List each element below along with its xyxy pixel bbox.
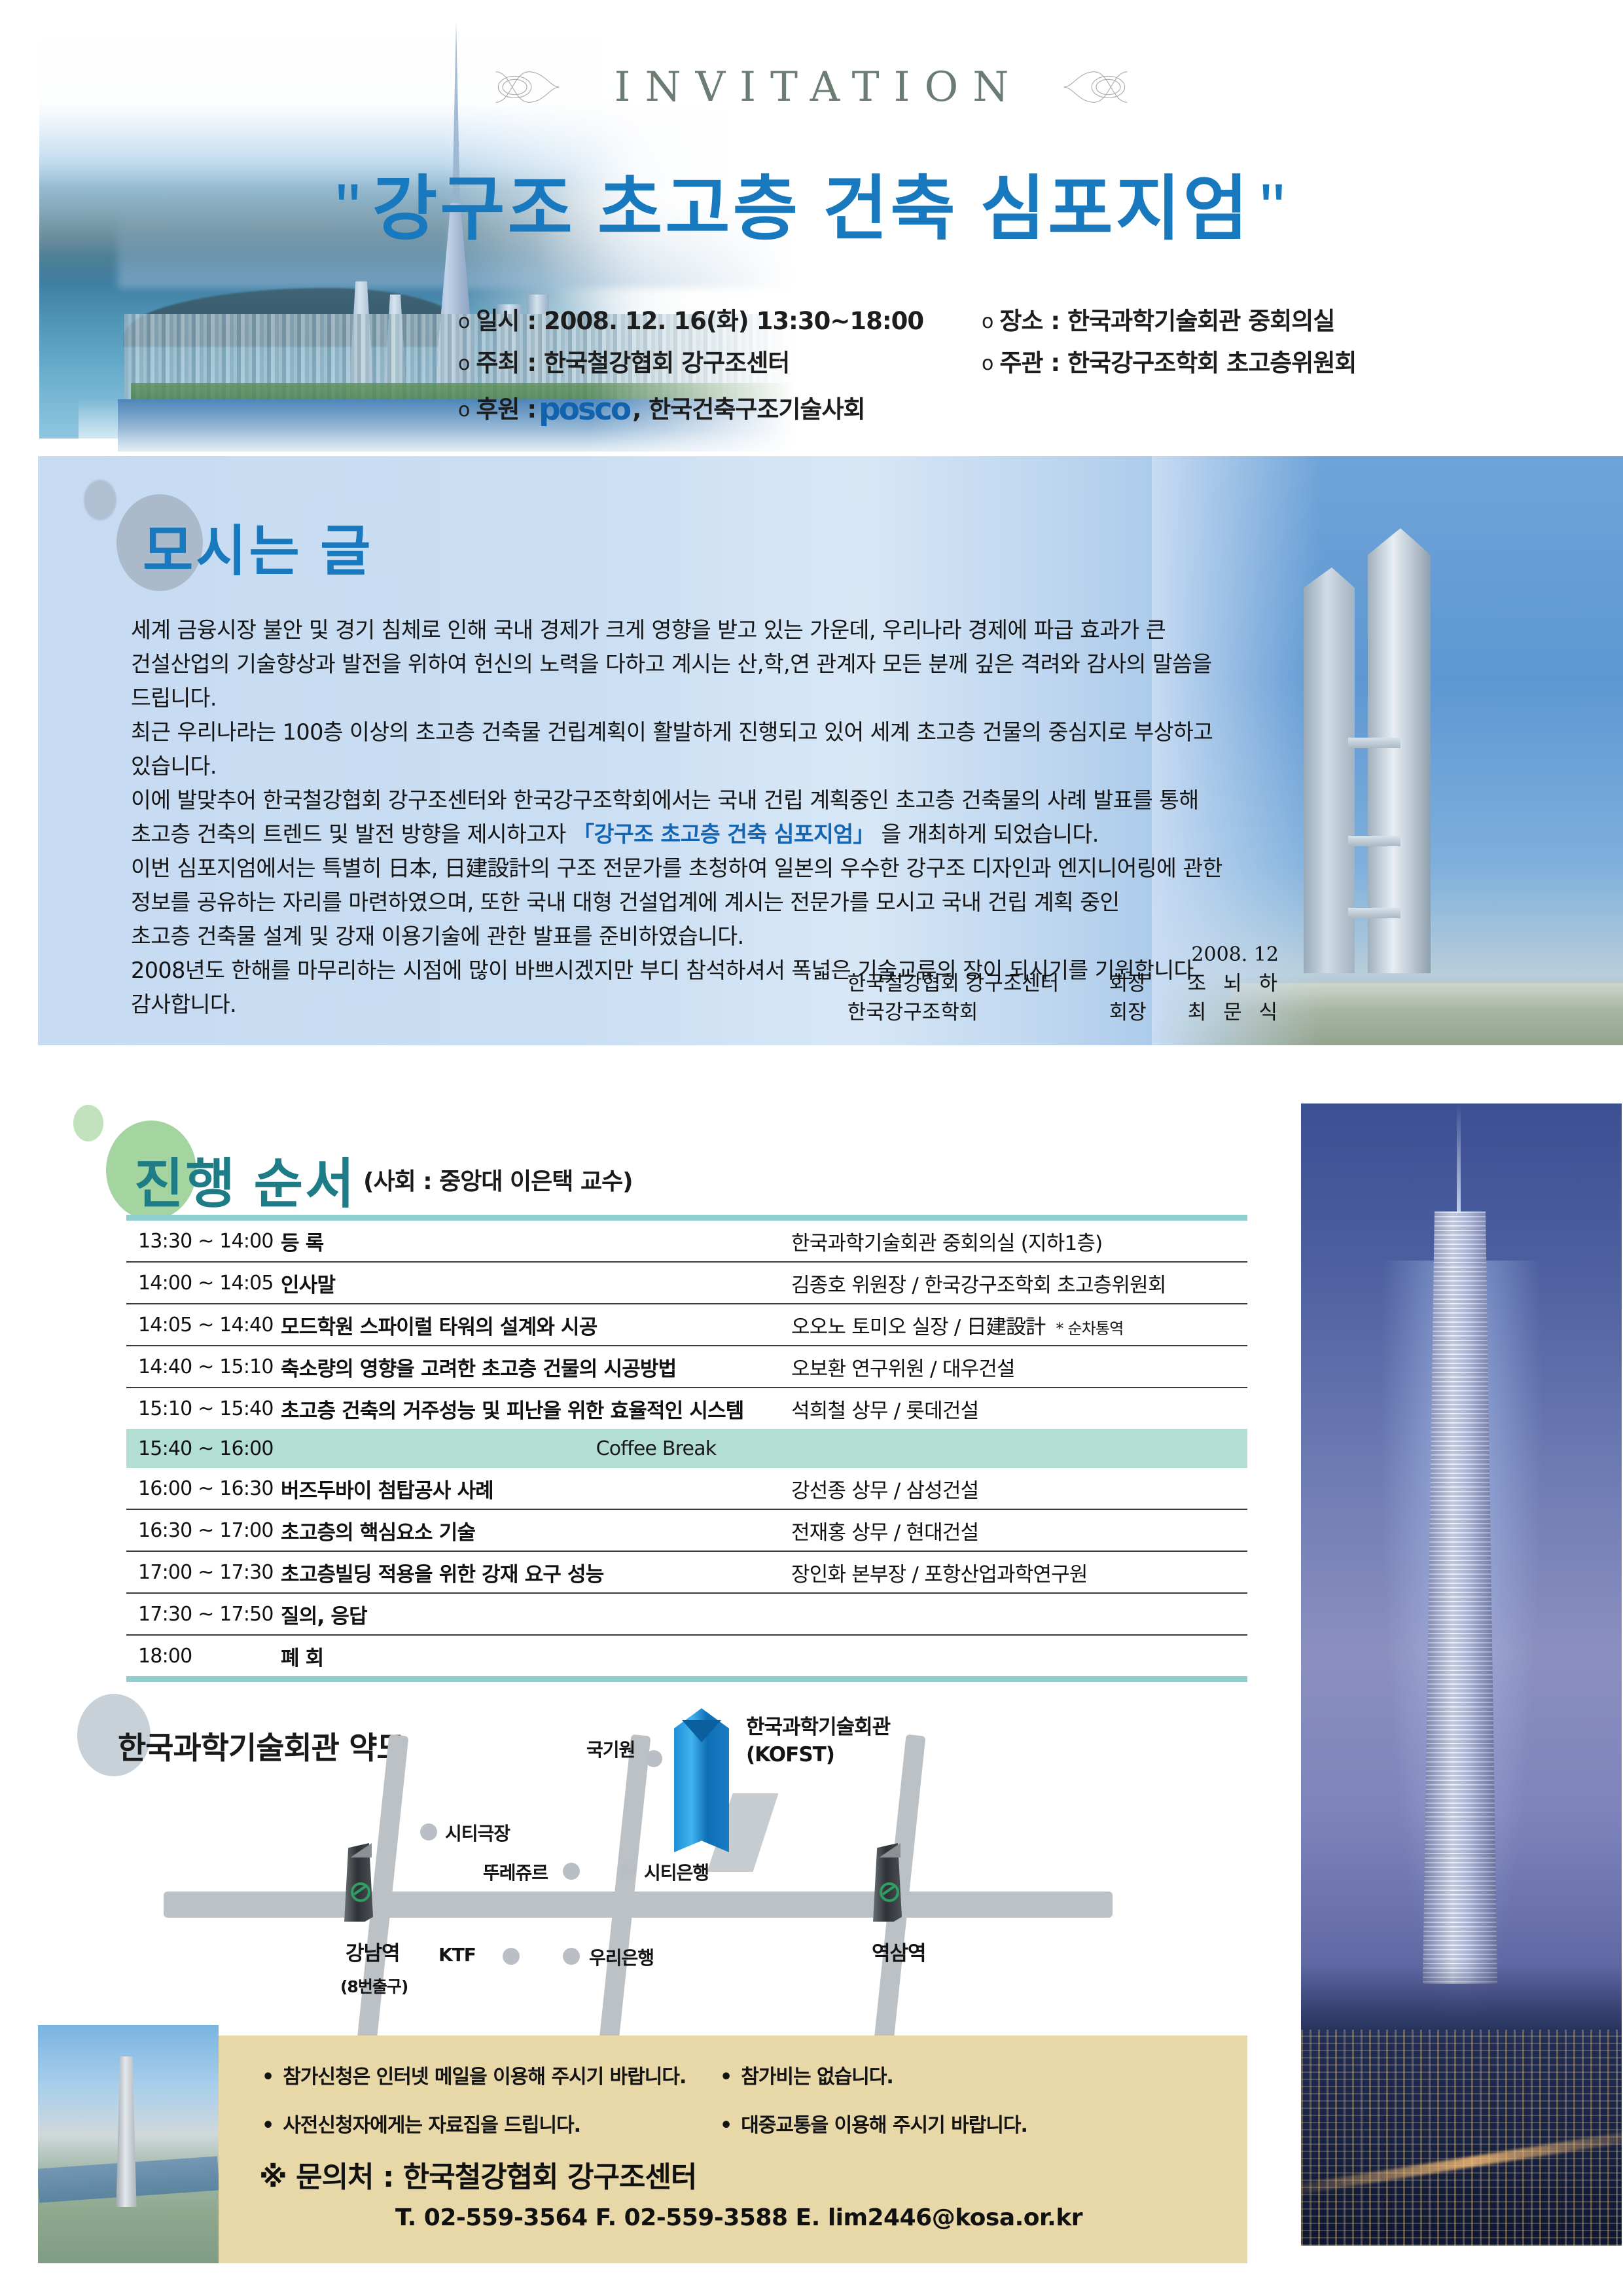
footer-note-1-text: 참가신청은 인터넷 메일을 이용해 주시기 바랍니다.: [283, 2066, 686, 2089]
table-row: 18:00 폐 회: [126, 1636, 1247, 1676]
greeting-line-5b: 을 개최하게 되었습니다.: [874, 821, 1098, 847]
row-topic: Coffee Break: [281, 1437, 1247, 1460]
event-info-sponsor: o후원 :posco, 한국건축구조기술사회: [458, 391, 1505, 429]
sponsor-label: 후원 :: [476, 395, 536, 423]
table-row: 14:00 ~ 14:05 인사말 김종호 위원장 / 한국강구조학회 초고층위…: [126, 1263, 1247, 1304]
greeting-ground: [1230, 983, 1623, 1045]
signature-row-1: 한국철강협회 강구조센터 회장 조 뇌 하: [847, 969, 1283, 998]
row-topic: 폐 회: [281, 1641, 791, 1671]
title-text: 강구조 초고층 건축 심포지엄: [372, 169, 1251, 248]
table-row: 16:00 ~ 16:30 버즈두바이 첨탑공사 사례 강선종 상무 / 삼성건…: [126, 1468, 1247, 1510]
greeting-line-3: 최근 우리나라는 100층 이상의 초고층 건축물 건립계획이 활발하게 진행되…: [131, 715, 1230, 783]
bullet-dot-icon: •: [262, 2114, 283, 2137]
bullet-dot-icon: •: [262, 2066, 283, 2089]
row-topic: 인사말: [281, 1268, 791, 1298]
bullet-circle-icon: o: [982, 352, 999, 375]
signature-row-2: 한국강구조학회 회장 최 문 식: [847, 998, 1283, 1027]
footer-note-3: •사전신청자에게는 자료집을 드립니다.: [262, 2109, 720, 2138]
schedule-rule-top: [126, 1215, 1247, 1221]
map-venue-name: 한국과학기술회관: [746, 1715, 890, 1740]
table-row: 14:05 ~ 14:40 모드학원 스파이럴 타워의 설계와 시공 오오노 토…: [126, 1304, 1247, 1346]
table-row: 14:40 ~ 15:10 축소량의 영향을 고려한 초고층 건물의 시공방법 …: [126, 1346, 1247, 1388]
map-poi-dot-tousles: [563, 1863, 580, 1880]
greeting-tower-primary: [1368, 528, 1431, 973]
footer-note-4-text: 대중교통을 이용해 주시기 바랍니다.: [741, 2114, 1027, 2137]
map-poi-citytheater: 시티극장: [445, 1820, 510, 1846]
flourish-right-icon: [1057, 65, 1134, 109]
station-exit-gangnam: (8번출구): [340, 1974, 408, 1998]
signer-org-2: 한국강구조학회: [847, 998, 1109, 1027]
event-info-venue: o장소 : 한국과학기술회관 중회의실: [982, 306, 1479, 336]
footer-tower: [115, 2056, 137, 2207]
event-info-date: o일시 : 2008. 12. 16(화) 13:30~18:00: [458, 306, 982, 336]
greeting-heading: 모시는 글: [143, 507, 373, 586]
map-poi-dot-citytheater: [420, 1823, 437, 1840]
night-cityscape: [1301, 1964, 1622, 2246]
invitation-word: INVITATION: [600, 63, 1024, 111]
map-poi-dot-citibank: [619, 1863, 636, 1880]
greeting-line-5a: 초고층 건축의 트렌드 및 발전 방향을 제시하고자: [131, 821, 573, 847]
subway-logo-icon: [880, 1882, 899, 1902]
footer-tower-photo: [38, 2025, 219, 2263]
row-time: 16:30 ~ 17:00: [126, 1519, 281, 1542]
map-road-main: [164, 1892, 1113, 1918]
bullet-dot-icon: •: [720, 2114, 741, 2137]
footer-note-3-text: 사전신청자에게는 자료집을 드립니다.: [283, 2114, 580, 2137]
map-poi-gukgiwon: 국기원: [586, 1736, 635, 1762]
map-road-v2: [599, 1734, 651, 2043]
row-time: 17:30 ~ 17:50: [126, 1603, 281, 1626]
kofst-building-icon: [674, 1708, 729, 1852]
row-topic: 버즈두바이 첨탑공사 사례: [281, 1474, 791, 1503]
row-topic: 초고층의 핵심요소 기술: [281, 1516, 791, 1545]
row-speaker-text: 오오노 토미오 실장 / 日建設計: [791, 1316, 1045, 1339]
program-schedule-table: 13:30 ~ 14:00 등 록 한국과학기술회관 중회의실 (지하1층) 1…: [126, 1215, 1247, 1682]
event-info-organizer: o주관 : 한국강구조학회 초고층위원회: [982, 348, 1479, 378]
signer-org-1: 한국철강협회 강구조센터: [847, 969, 1109, 998]
bullet-circle-icon: o: [458, 399, 476, 422]
greeting-line-4: 이에 발맞추어 한국철강협회 강구조센터와 한국강구조학회에서는 국내 건립 계…: [131, 783, 1230, 817]
row-topic: 초고층빌딩 적용을 위한 강재 요구 성능: [281, 1558, 791, 1587]
subway-logo-icon: [351, 1882, 370, 1902]
event-info-block: o일시 : 2008. 12. 16(화) 13:30~18:00 o장소 : …: [458, 306, 1505, 429]
greeting-line-2: 건설산업의 기술향상과 발전을 위하여 헌신의 노력을 다하고 계시는 산,학,…: [131, 647, 1230, 715]
bullet-circle-icon: o: [458, 310, 476, 333]
row-time: 15:40 ~ 16:00: [126, 1437, 281, 1460]
map-poi-wooribank: 우리은행: [589, 1944, 654, 1970]
night-tower-photo: [1301, 1103, 1622, 2246]
signer-name-1: 조 뇌 하: [1188, 969, 1283, 998]
row-topic: 모드학원 스파이럴 타워의 설계와 시공: [281, 1310, 791, 1340]
row-speaker: 석희철 상무 / 롯데건설: [791, 1394, 1247, 1424]
row-time: 13:30 ~ 14:00: [126, 1230, 281, 1253]
program-dot-small: [73, 1105, 103, 1141]
poster-page: INVITATION "강구조 초고층 건축 심포지엄" o일시 : 2008.…: [0, 0, 1623, 2296]
posco-logo: posco: [536, 391, 632, 427]
greeting-skybridge-3: [1348, 908, 1400, 918]
row-speaker: 전재홍 상무 / 현대건설: [791, 1516, 1247, 1545]
greeting-line-7: 정보를 공유하는 자리를 마련하였으며, 또한 국내 대형 건설업계에 계시는 …: [131, 886, 1230, 920]
table-row-coffee-break: 15:40 ~ 16:00 Coffee Break: [126, 1429, 1247, 1468]
bullet-circle-icon: o: [458, 352, 476, 375]
footer-note-2-text: 참가비는 없습니다.: [741, 2066, 893, 2089]
greeting-line-5: 초고층 건축의 트렌드 및 발전 방향을 제시하고자 「강구조 초고층 건축 심…: [131, 817, 1230, 852]
footer-note-4: •대중교통을 이용해 주시기 바랍니다.: [720, 2109, 1217, 2138]
signature-date: 2008. 12: [847, 941, 1283, 969]
row-time: 15:10 ~ 15:40: [126, 1397, 281, 1420]
greeting-line-6: 이번 심포지엄에서는 특별히 日本, 日建設計의 구조 전문가를 초청하여 일본…: [131, 852, 1230, 886]
signer-role-1: 회장: [1109, 969, 1188, 998]
map-poi-dot-wooribank: [563, 1948, 580, 1965]
map-poi-dot-ktf: [503, 1948, 520, 1965]
map-poi-ktf: KTF: [438, 1944, 476, 1965]
row-time: 17:00 ~ 17:30: [126, 1561, 281, 1584]
table-row: 17:30 ~ 17:50 질의, 응답: [126, 1594, 1247, 1636]
footer-tel-line[interactable]: T. 02-559-3564 F. 02-559-3588 E. lim2446…: [395, 2204, 1082, 2231]
title-quote-close: ": [1251, 169, 1296, 248]
invitation-wordmark-row: INVITATION: [0, 63, 1623, 111]
row-speaker: 김종호 위원장 / 한국강구조학회 초고층위원회: [791, 1268, 1247, 1298]
event-info-venue-text: 장소 : 한국과학기술회관 중회의실: [999, 307, 1334, 335]
greeting-tower-secondary: [1304, 567, 1355, 973]
row-speaker: 오보환 연구위원 / 대우건설: [791, 1352, 1247, 1382]
greeting-dot-small: [84, 480, 116, 520]
signer-role-2: 회장: [1109, 998, 1188, 1027]
map-poi-dot-gukgiwon: [645, 1750, 662, 1767]
station-label-yeoksam: 역삼역: [872, 1941, 926, 1966]
row-topic: 축소량의 영향을 고려한 초고층 건물의 시공방법: [281, 1352, 791, 1382]
station-marker-gangnam: [344, 1843, 373, 1922]
sponsor-extra: , 한국건축구조기술사회: [632, 395, 865, 423]
row-speaker: 강선종 상무 / 삼성건설: [791, 1474, 1247, 1503]
event-info-date-text: 일시 : 2008. 12. 16(화) 13:30~18:00: [476, 307, 923, 335]
table-row: 17:00 ~ 17:30 초고층빌딩 적용을 위한 강재 요구 성능 장인화 …: [126, 1552, 1247, 1594]
greeting-symposium-name: 「강구조 초고층 건축 심포지엄」: [573, 821, 875, 847]
greeting-signature: 2008. 12 한국철강협회 강구조센터 회장 조 뇌 하 한국강구조학회 회…: [847, 941, 1283, 1027]
table-row: 15:10 ~ 15:40 초고층 건축의 거주성능 및 피난을 위한 효율적인…: [126, 1388, 1247, 1429]
row-topic: 질의, 응답: [281, 1600, 791, 1629]
greeting-skybridge-1: [1348, 738, 1400, 748]
row-time: 14:00 ~ 14:05: [126, 1272, 281, 1295]
event-info-organizer-text: 주관 : 한국강구조학회 초고층위원회: [999, 349, 1356, 377]
bullet-dot-icon: •: [720, 2066, 741, 2089]
flourish-left-icon: [489, 65, 566, 109]
footer-contact-line: ※ 문의처 : 한국철강협회 강구조센터: [259, 2153, 696, 2195]
bullet-circle-icon: o: [982, 310, 999, 333]
greeting-skybridge-2: [1348, 836, 1400, 846]
table-row: 13:30 ~ 14:00 등 록 한국과학기술회관 중회의실 (지하1층): [126, 1221, 1247, 1263]
station-label-gangnam: 강남역: [346, 1941, 400, 1966]
row-topic: 등 록: [281, 1227, 791, 1256]
row-time: 18:00: [126, 1645, 281, 1668]
event-info-host-text: 주최 : 한국철강협회 강구조센터: [476, 349, 789, 377]
table-row: 16:30 ~ 17:00 초고층의 핵심요소 기술 전재홍 상무 / 현대건설: [126, 1510, 1247, 1552]
footer-notes: •참가신청은 인터넷 메일을 이용해 주시기 바랍니다. •참가비는 없습니다.…: [262, 2060, 1243, 2138]
map-venue-code: (KOFST): [746, 1742, 834, 1767]
row-time: 16:00 ~ 16:30: [126, 1477, 281, 1500]
footer-note-1: •참가신청은 인터넷 메일을 이용해 주시기 바랍니다.: [262, 2060, 720, 2089]
row-speaker: 한국과학기술회관 중회의실 (지하1층): [791, 1227, 1247, 1256]
row-time: 14:05 ~ 14:40: [126, 1314, 281, 1336]
row-speaker: 오오노 토미오 실장 / 日建設計* 순차통역: [791, 1310, 1247, 1340]
title-quote-open: ": [326, 169, 372, 248]
row-speaker: 장인화 본부장 / 포항산업과학연구원: [791, 1558, 1247, 1587]
greeting-panel: 모시는 글 세계 금융시장 불안 및 경기 침체로 인해 국내 경제가 크게 영…: [38, 456, 1623, 1045]
map-poi-tousles: 뚜레쥬르: [483, 1859, 548, 1885]
program-moderator: (사회 : 중앙대 이은택 교수): [363, 1162, 633, 1196]
row-speaker-note: * 순차통역: [1045, 1319, 1127, 1338]
signer-name-2: 최 문 식: [1188, 998, 1283, 1027]
event-info-host: o주최 : 한국철강협회 강구조센터: [458, 348, 982, 378]
map-poi-citibank: 시티은행: [644, 1859, 709, 1885]
greeting-line-1: 세계 금융시장 불안 및 경기 침체로 인해 국내 경제가 크게 영향을 받고 …: [131, 613, 1230, 647]
row-topic: 초고층 건축의 거주성능 및 피난을 위한 효율적인 시스템: [281, 1394, 791, 1424]
schedule-rule-bottom: [126, 1676, 1247, 1682]
row-time: 14:40 ~ 15:10: [126, 1355, 281, 1378]
venue-map: 한국과학기술회관 (KOFST) 국기원 시티극장 뚜레쥬르 시티은행 KTF …: [157, 1695, 1257, 2036]
program-heading: 진행 순서: [134, 1140, 357, 1218]
station-marker-yeoksam: [873, 1843, 902, 1922]
footer-note-2: •참가비는 없습니다.: [720, 2060, 1217, 2089]
page-title: "강구조 초고층 건축 심포지엄": [0, 152, 1623, 254]
